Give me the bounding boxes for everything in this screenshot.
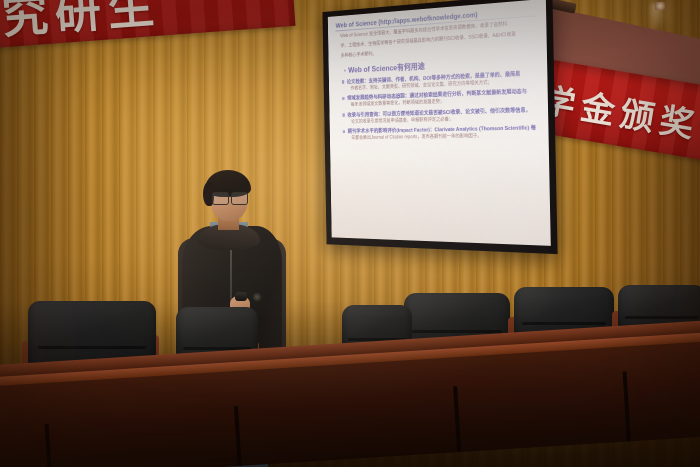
eyeglass-lens-right (231, 192, 248, 205)
bullet-3-label: 收录与引用查询： (347, 112, 382, 118)
slide-heading-text: Web of Science有何用途 (348, 61, 425, 74)
square-bullet-icon (342, 97, 345, 100)
eyeglass-bridge (227, 196, 231, 197)
projection-screen: Web of Science (http://apps.webofknowled… (322, 0, 557, 254)
eyeglass-lens-left (212, 192, 229, 205)
ceiling-light-fixture (655, 2, 665, 10)
square-bullet-icon (342, 81, 345, 84)
eyeglasses-icon (212, 192, 248, 203)
hoodie-chest-logo (252, 292, 262, 302)
projection-screen-surface: Web of Science (http://apps.webofknowled… (328, 0, 551, 246)
heading-bullet-icon: • (344, 68, 346, 74)
square-bullet-icon (343, 130, 346, 133)
presentation-clicker (235, 292, 247, 301)
square-bullet-icon (342, 114, 345, 117)
lecture-hall-photo: 究研生 奖学金颁奖仪式 Web of Science (http://apps.… (0, 0, 700, 467)
presentation-slide: Web of Science (http://apps.webofknowled… (331, 1, 547, 240)
